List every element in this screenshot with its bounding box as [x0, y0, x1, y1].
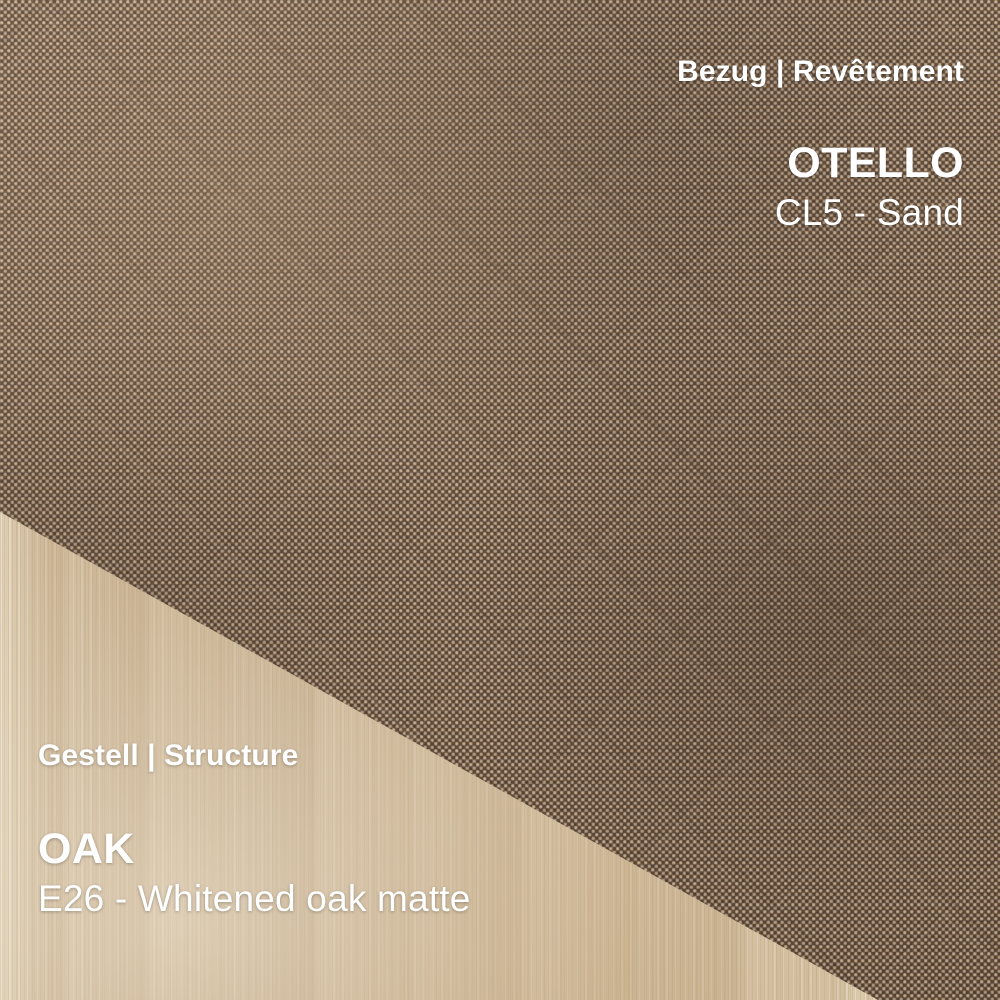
fabric-label-group: Bezug | Revêtement OTELLO CL5 - Sand	[677, 56, 964, 233]
wood-variant-name: E26 - Whitened oak matte	[38, 879, 471, 919]
fabric-variant-name: CL5 - Sand	[677, 193, 964, 233]
fabric-category-label: Bezug | Revêtement	[677, 56, 964, 88]
wood-label-group: Gestell | Structure OAK E26 - Whitened o…	[38, 740, 471, 919]
fabric-brand-name: OTELLO	[677, 140, 964, 186]
wood-brand-name: OAK	[38, 826, 471, 872]
wood-category-label: Gestell | Structure	[38, 740, 471, 772]
material-swatch-card: Bezug | Revêtement OTELLO CL5 - Sand Ges…	[0, 0, 1000, 1000]
